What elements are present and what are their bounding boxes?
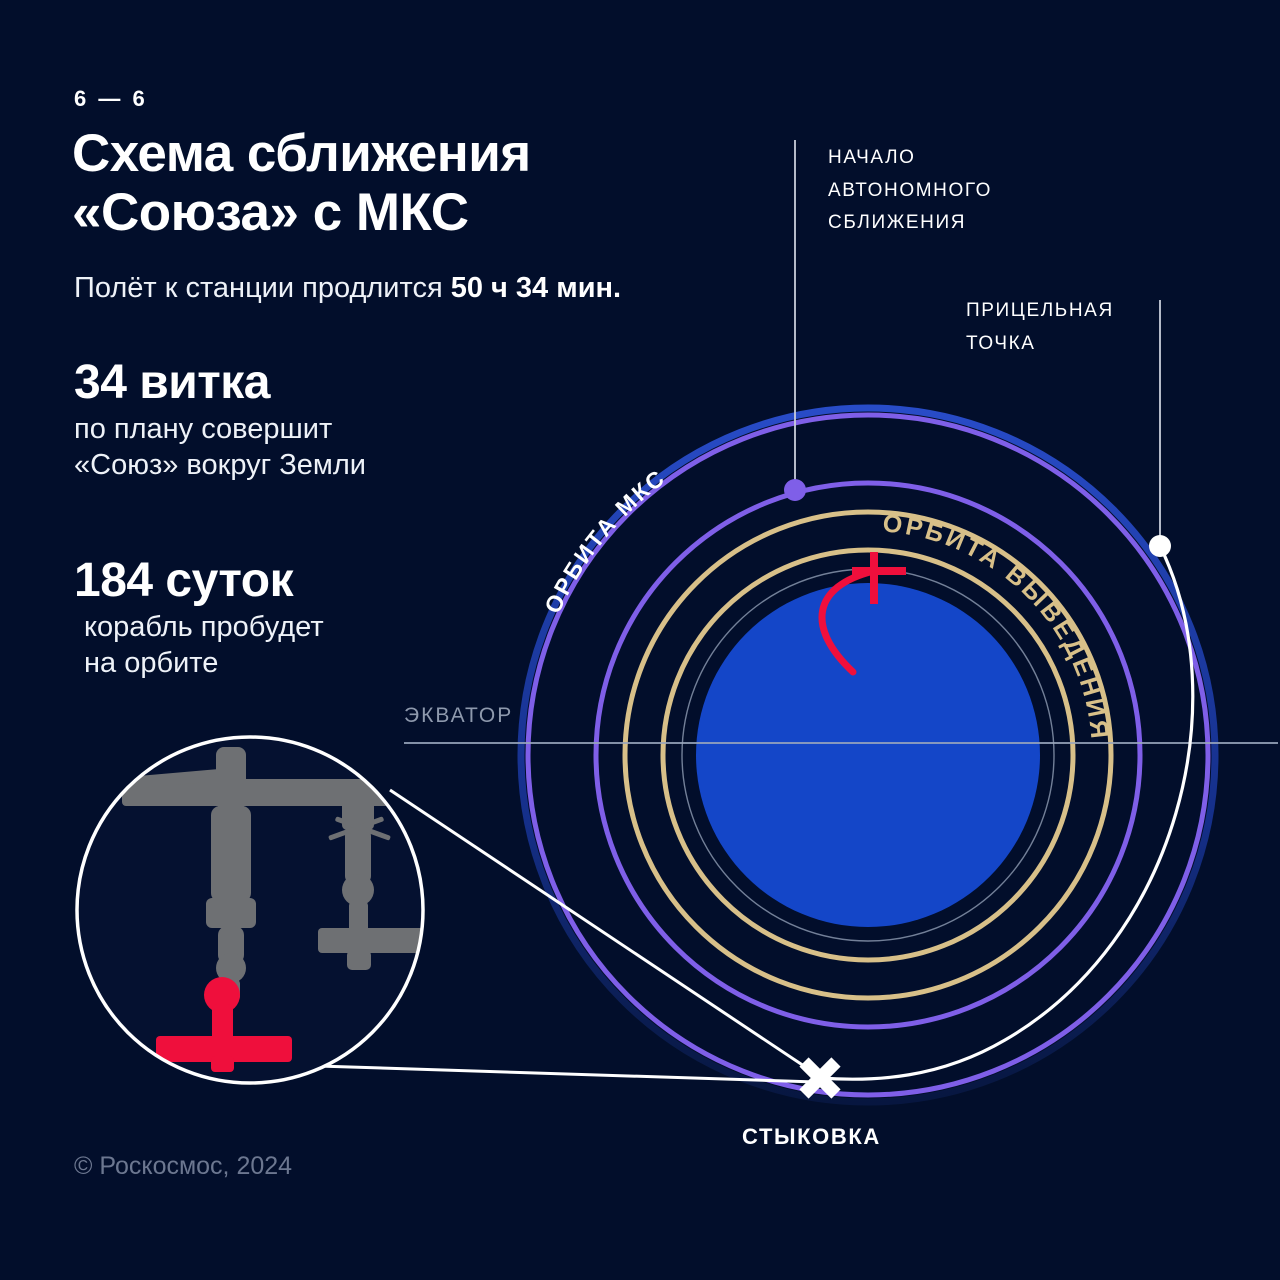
annotation-docking: СТЫКОВКА <box>742 1118 881 1156</box>
page-number: 6 — 6 <box>74 86 148 112</box>
stat-orbits-description: по плану совершит «Союз» вокруг Земли <box>74 412 366 483</box>
annotation-equator: ЭКВАТОР <box>404 698 513 734</box>
flight-duration-value: 50 ч 34 мин. <box>451 272 621 304</box>
annotation-target-point: ПРИЦЕЛЬНАЯ ТОЧКА <box>966 295 1114 360</box>
stat-duration-value: 184 суток <box>74 556 324 606</box>
flight-duration-subtitle: Полёт к станции продлится 50 ч 34 мин. <box>74 272 621 305</box>
infographic-canvas: ОРБИТА МКС ОРБИТА ВЫВЕДЕНИЯ 6 — 6 Схема … <box>0 0 1280 1280</box>
stat-orbits: 34 витка по плану совершит «Союз» вокруг… <box>74 358 366 483</box>
page-title: Схема сближения «Союза» с МКС <box>72 124 712 243</box>
autonomous-start-dot <box>784 479 806 501</box>
target-point-dot <box>1149 535 1171 557</box>
flight-duration-prefix: Полёт к станции продлится <box>74 272 451 304</box>
stat-orbits-value: 34 витка <box>74 358 366 408</box>
earth-sphere <box>696 583 1040 927</box>
annotation-autonomous-start: НАЧАЛО АВТОНОМНОГО СБЛИЖЕНИЯ <box>828 142 992 240</box>
stat-duration-description: корабль пробудет на орбите <box>74 610 324 681</box>
stat-duration: 184 суток корабль пробудет на орбите <box>74 556 324 681</box>
copyright-notice: © Роскосмос, 2024 <box>74 1152 292 1181</box>
